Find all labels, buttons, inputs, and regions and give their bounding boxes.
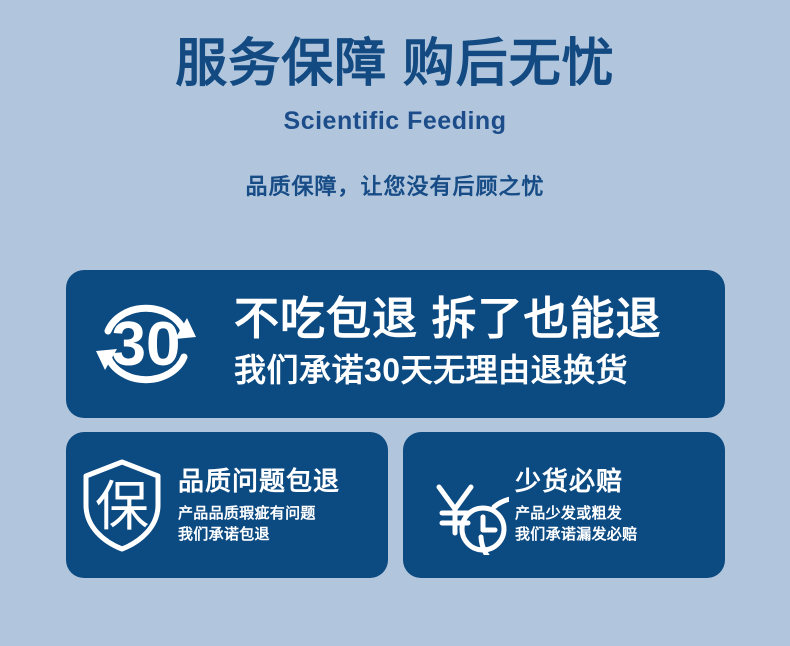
card-title: 少货必赔 bbox=[515, 465, 719, 497]
card-description-line1: 产品少发或粗发 bbox=[515, 503, 719, 524]
card-quality-guarantee: 保 品质问题包退 产品品质瑕疵有问题 我们承诺包退 bbox=[66, 432, 388, 578]
card-title: 品质问题包退 bbox=[178, 465, 382, 497]
page-tagline: 品质保障，让您没有后顾之忧 bbox=[0, 172, 790, 202]
service-guarantee-page: 服务保障 购后无忧 Scientific Feeding 品质保障，让您没有后顾… bbox=[0, 0, 790, 646]
card-description-line2: 我们承诺漏发必赔 bbox=[515, 524, 719, 545]
guarantee-cards: 保 品质问题包退 产品品质瑕疵有问题 我们承诺包退 bbox=[66, 432, 725, 578]
card-short-shipment-compensation: 少货必赔 产品少发或粗发 我们承诺漏发必赔 bbox=[403, 432, 725, 578]
thirty-day-return-icon: 30 bbox=[66, 270, 226, 418]
yen-clock-compensation-icon bbox=[403, 432, 515, 578]
banner-text-block: 不吃包退 拆了也能退 我们承诺30天无理由退换货 bbox=[226, 293, 725, 395]
card-description: 产品品质瑕疵有问题 我们承诺包退 bbox=[178, 503, 382, 545]
banner-headline: 不吃包退 拆了也能退 bbox=[234, 293, 725, 345]
return-policy-banner: 30 不吃包退 拆了也能退 我们承诺30天无理由退换货 bbox=[66, 270, 725, 418]
page-subtitle-english: Scientific Feeding bbox=[0, 105, 790, 137]
card-compensation-text: 少货必赔 产品少发或粗发 我们承诺漏发必赔 bbox=[515, 465, 725, 545]
shield-guarantee-icon: 保 bbox=[66, 432, 178, 578]
card-quality-text: 品质问题包退 产品品质瑕疵有问题 我们承诺包退 bbox=[178, 465, 388, 545]
page-title: 服务保障 购后无忧 bbox=[0, 34, 790, 94]
card-description-line2: 我们承诺包退 bbox=[178, 524, 382, 545]
card-description: 产品少发或粗发 我们承诺漏发必赔 bbox=[515, 503, 719, 545]
thirty-label: 30 bbox=[112, 310, 181, 379]
banner-subline: 我们承诺30天无理由退换货 bbox=[234, 349, 725, 391]
card-description-line1: 产品品质瑕疵有问题 bbox=[178, 503, 382, 524]
shield-glyph: 保 bbox=[95, 477, 149, 537]
